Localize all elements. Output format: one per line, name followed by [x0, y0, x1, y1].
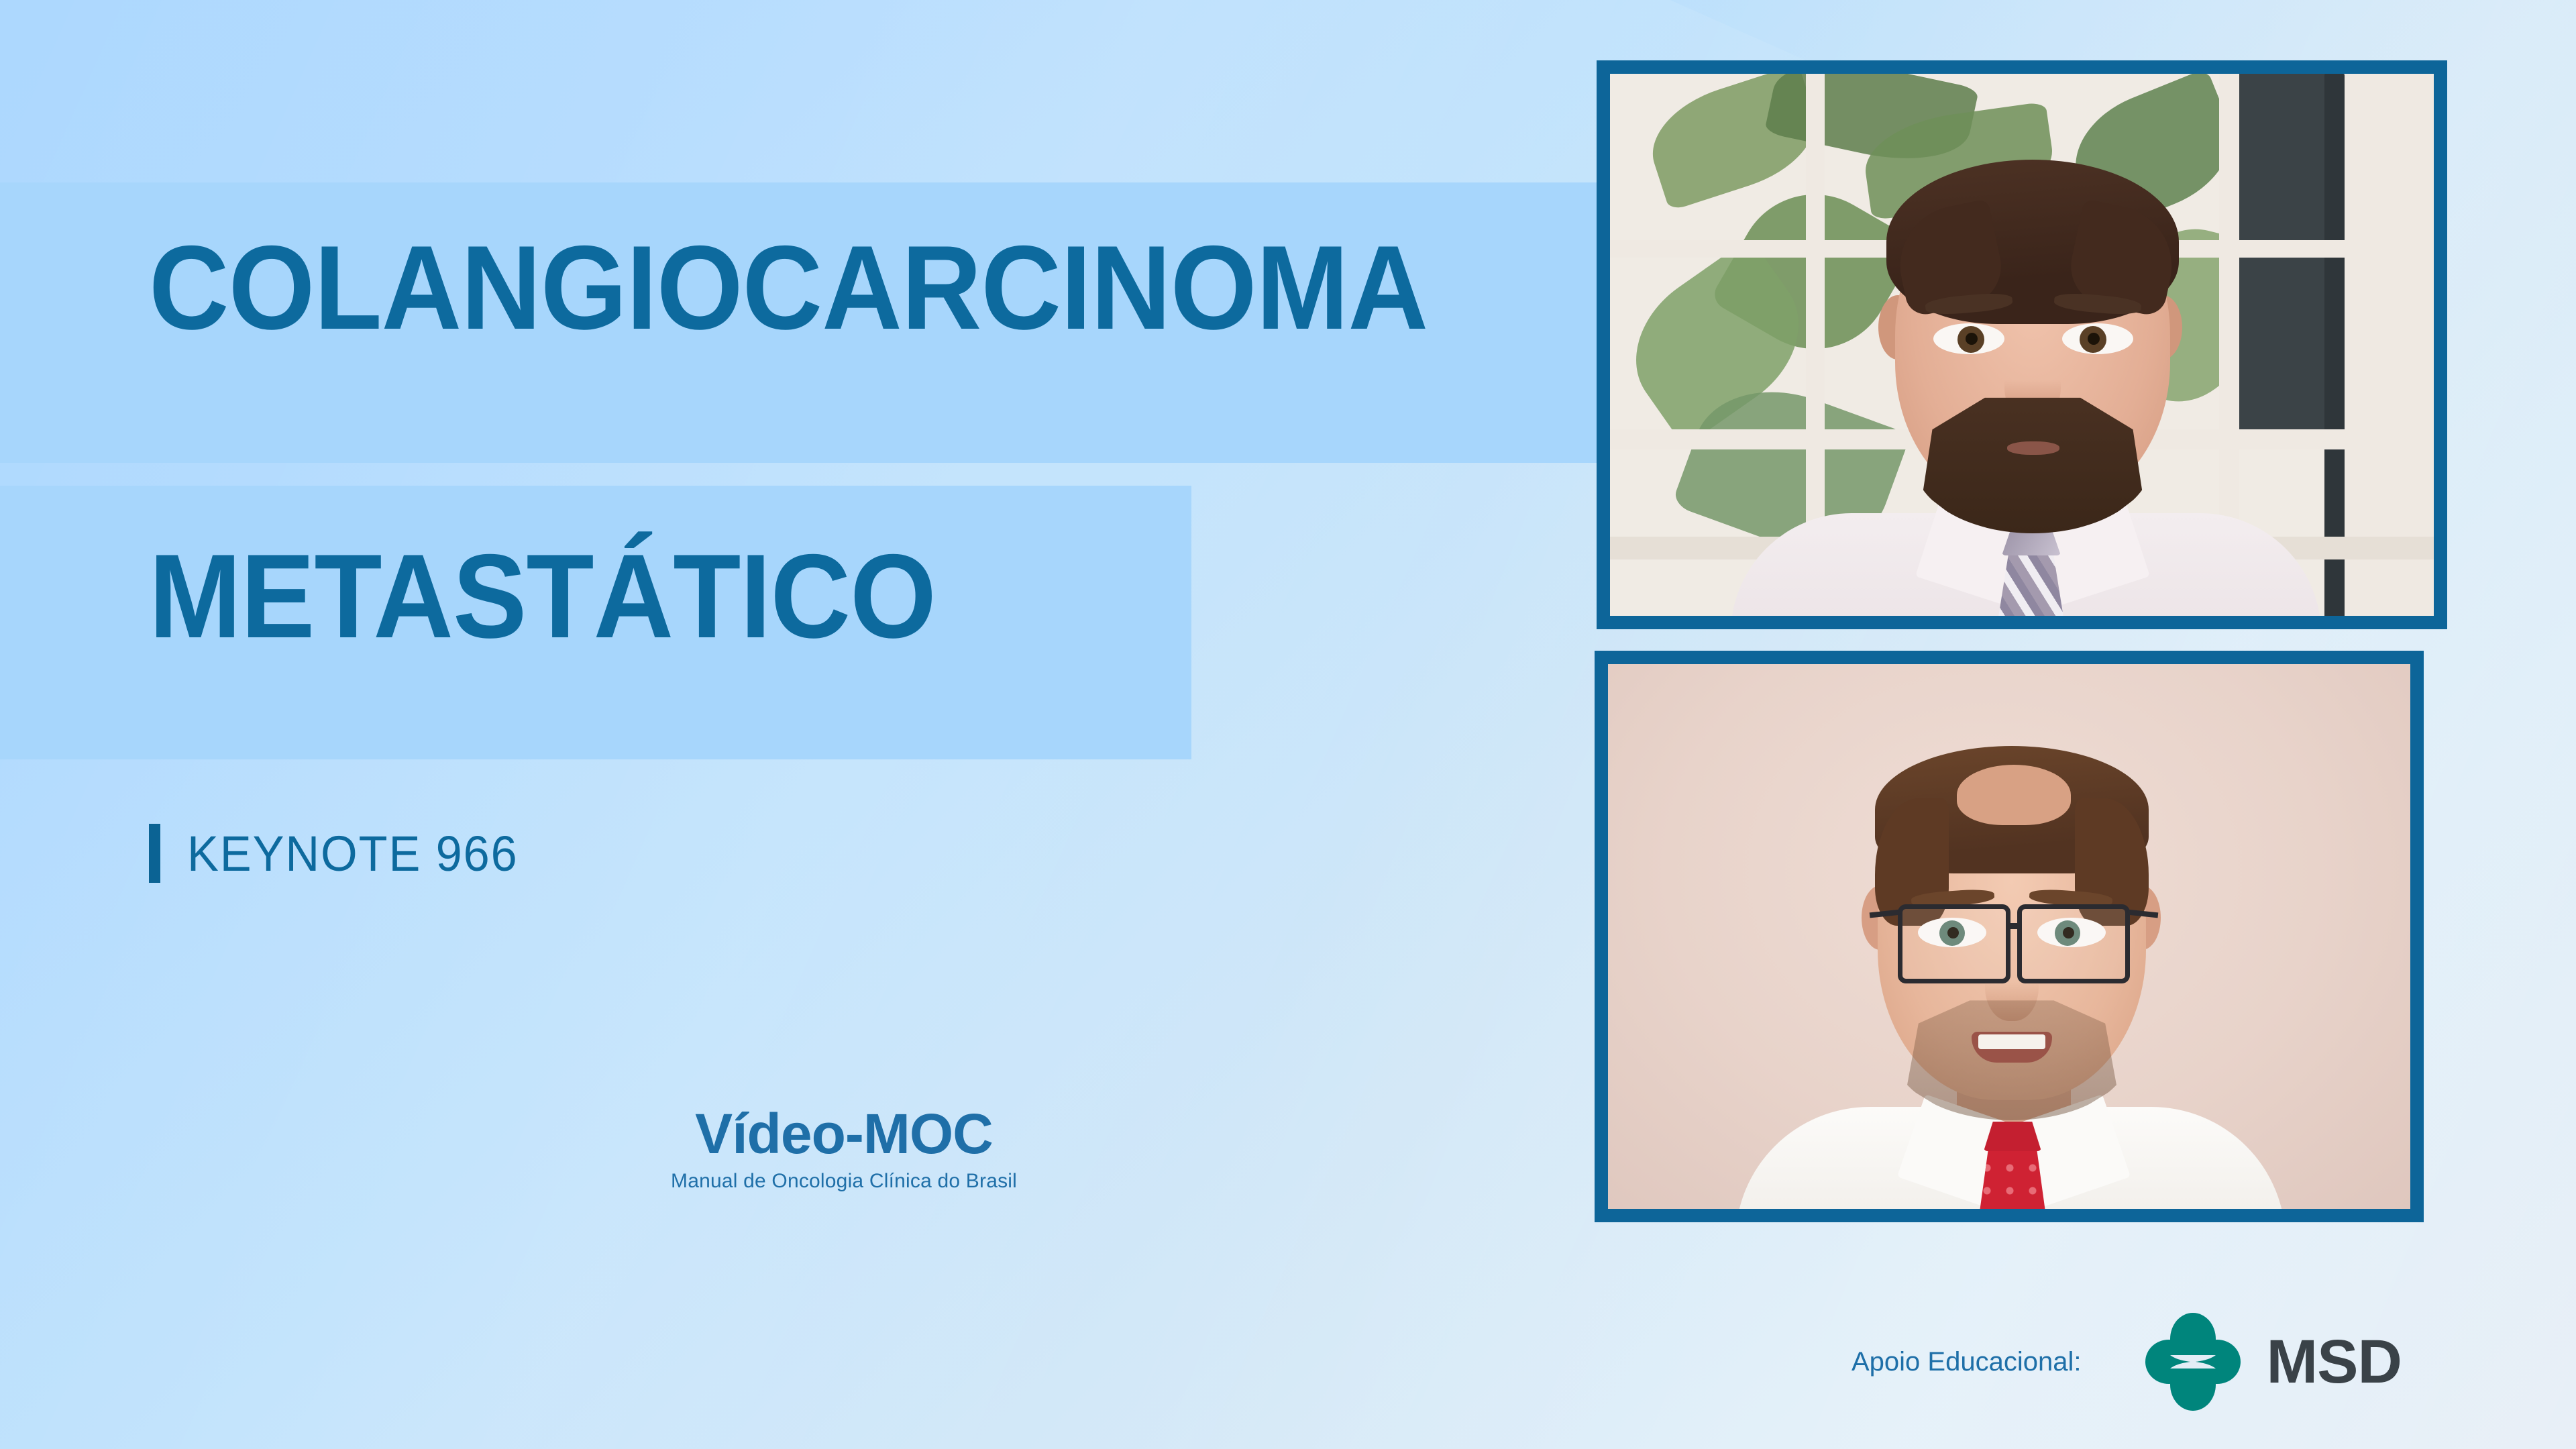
video-moc-logo: Vídeo-MOC Manual de Oncologia Clínica do…	[671, 1106, 1017, 1193]
sponsor-label: Apoio Educacional:	[1851, 1347, 2081, 1377]
window-pane	[2345, 74, 2434, 616]
msd-wordmark: MSD	[2266, 1331, 2401, 1393]
speaker-photo-top	[1597, 60, 2447, 629]
window-shutter	[2237, 74, 2338, 449]
study-label: KEYNOTE 966	[187, 825, 519, 882]
slide-title-line-1: COLANGIOCARCINOMA	[149, 228, 1428, 347]
pupil	[2088, 333, 2100, 345]
teeth	[1978, 1034, 2045, 1049]
sponsor-strip: Apoio Educacional: MSD	[1851, 1311, 2402, 1412]
msd-clover-icon	[2143, 1311, 2243, 1412]
photo-scene-office	[1610, 74, 2434, 616]
speaker-photo-bottom	[1595, 651, 2424, 1222]
brand-tagline: Manual de Oncologia Clínica do Brasil	[671, 1170, 1017, 1193]
slide-title-line-2: METASTÁTICO	[149, 537, 936, 656]
eyeglasses-bridge	[2009, 923, 2020, 929]
forehead-widows-peak	[1957, 765, 2071, 825]
title-slide: COLANGIOCARCINOMA METASTÁTICO KEYNOTE 96…	[0, 0, 2576, 1449]
window-shutter	[2324, 74, 2345, 616]
necktie-knot	[1984, 1122, 2041, 1151]
msd-logo: MSD	[2143, 1311, 2401, 1412]
brand-name: Vídeo-MOC	[671, 1106, 1017, 1162]
pupil	[1966, 333, 1978, 345]
accent-bar-icon	[149, 824, 160, 883]
mouth	[2007, 441, 2059, 455]
photo-scene-studio	[1608, 664, 2410, 1209]
study-label-group: KEYNOTE 966	[149, 824, 536, 883]
